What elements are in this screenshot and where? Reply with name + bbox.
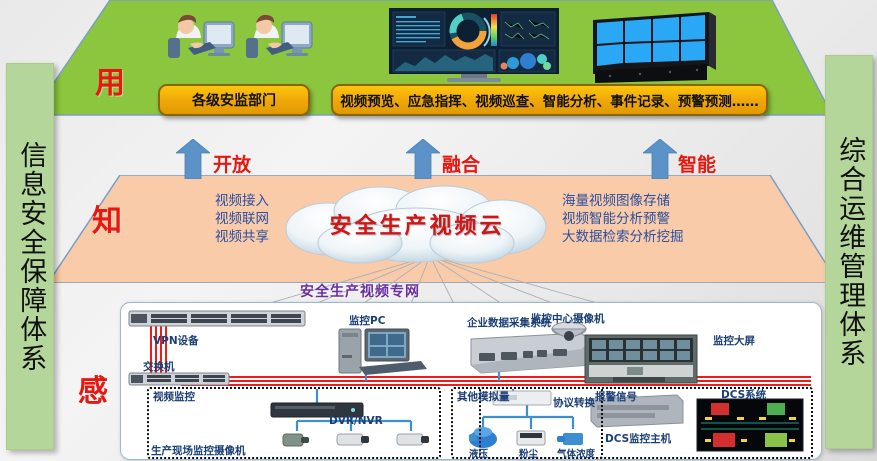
label-dcs-host: DCS监控主机 — [605, 431, 671, 446]
cloud-left-items: 视频接入 视频联网 视频共享 — [129, 193, 269, 247]
layer-label-know: 知 — [92, 196, 122, 240]
cloud-right-items: 海量视频图像存储 视频智能分析预警 大数据检索分析挖掘 — [562, 193, 777, 247]
label-protocol-convert: 协议转换 — [553, 395, 595, 410]
label-big-screen: 监控大屏 — [713, 333, 755, 348]
bi-dashboard-monitor-icon — [389, 8, 559, 82]
layer-label-sense: 感 — [78, 366, 108, 410]
arrow-label-smart: 智能 — [678, 150, 716, 177]
dept-box[interactable]: 各级安监部门 — [158, 84, 310, 116]
label-group-video-monitor: 视频监控 — [153, 389, 195, 404]
arrow-label-fuse: 融合 — [442, 150, 480, 177]
label-group-alarm-signals: 报警信号 — [595, 389, 637, 404]
pillar-left-info-security: 信息安全保障体系 — [6, 63, 54, 450]
label-monitor-pc: 监控PC — [349, 313, 385, 328]
label-dcs-system: DCS系统 — [721, 387, 766, 402]
label-group-analog-signals: 其他模拟量 — [457, 389, 510, 404]
label-dvr-nvr: DVR/NVR — [329, 415, 383, 427]
arrow-up-open-icon — [176, 139, 210, 179]
architecture-diagram: 用 知 感 — [0, 0, 877, 461]
video-wall-display-icon — [585, 8, 722, 83]
two-operators-at-computers-icon — [146, 8, 318, 80]
pillar-right-label: 综合运维管理体系 — [835, 136, 864, 368]
label-center-camera: 监控中心摄像机 — [531, 311, 605, 326]
layer-label-use: 用 — [95, 58, 125, 102]
label-switch: 交换机 — [143, 359, 175, 374]
pillar-right-ops-management: 综合运维管理体系 — [825, 55, 873, 449]
sense-layer-panel: VPN设备 监控PC 交换机 企业数据采集系统 监控中心摄像机 监控大屏 视频监… — [120, 302, 822, 460]
label-site-cameras: 生产现场监控摄像机 — [151, 443, 246, 458]
function-box[interactable]: 视频预览、应急指挥、视频巡查、智能分析、事件记录、预警预测…… — [331, 84, 768, 116]
label-dust: 粉尘 — [519, 446, 538, 460]
label-gas-concentration: 气体浓度 — [557, 446, 595, 460]
arrow-up-fuse-icon — [406, 139, 440, 179]
arrow-up-smart-icon — [643, 139, 677, 179]
arrow-label-open: 开放 — [213, 150, 251, 177]
pillar-left-label: 信息安全保障体系 — [16, 141, 45, 373]
label-hydraulic: 液压 — [469, 446, 488, 460]
cloud-title: 安全生产视频云 — [276, 208, 558, 240]
label-vpn: VPN设备 — [153, 333, 199, 348]
network-label: 安全生产视频专网 — [300, 281, 420, 301]
